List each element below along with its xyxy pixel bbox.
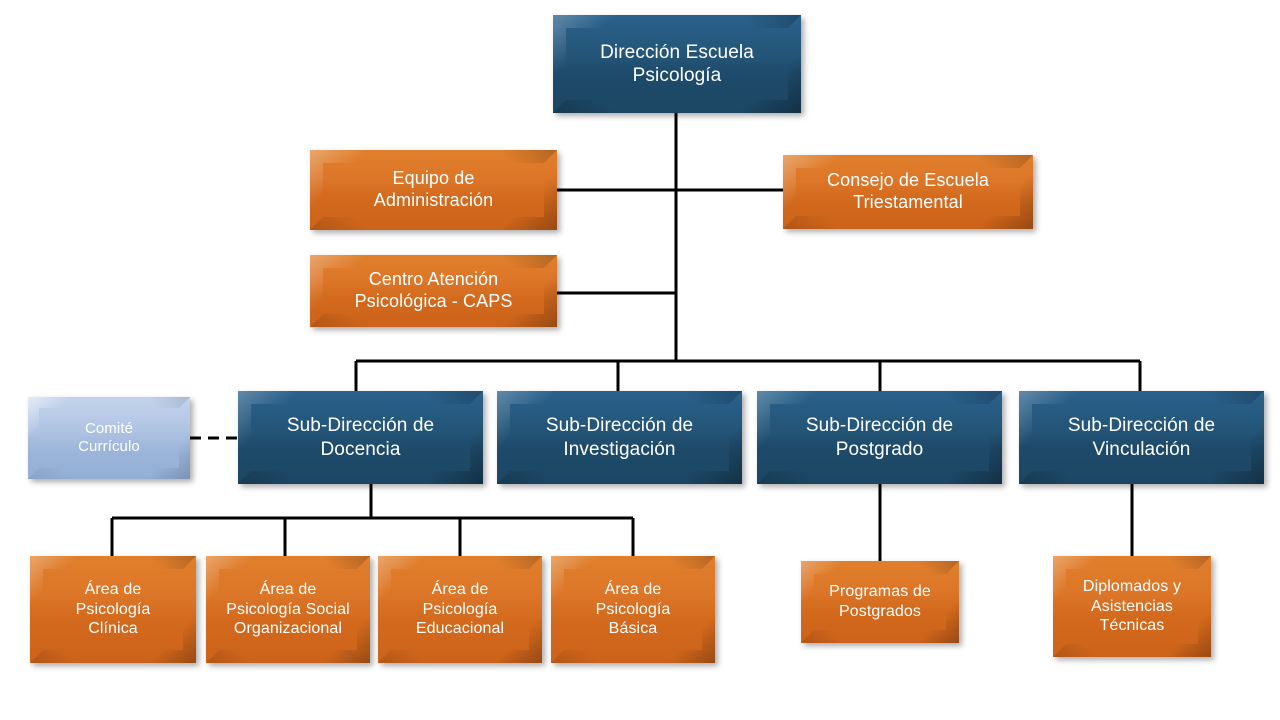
node-sub-direccion-vinculacion[interactable]: Sub-Dirección de Vinculación <box>1019 391 1264 484</box>
node-label: Sub-Dirección de Postgrado <box>800 414 959 460</box>
org-chart-canvas: Dirección Escuela Psicología Equipo de A… <box>0 0 1280 720</box>
node-consejo-escuela-triestamental[interactable]: Consejo de Escuela Triestamental <box>783 155 1033 229</box>
node-sub-direccion-investigacion[interactable]: Sub-Dirección de Investigación <box>497 391 742 484</box>
node-label: Sub-Dirección de Investigación <box>540 414 699 460</box>
node-label: Área de Psicología Clínica <box>70 580 157 639</box>
node-label: Centro Atención Psicológica - CAPS <box>349 269 519 313</box>
node-area-psicologia-basica[interactable]: Área de Psicología Básica <box>551 556 715 663</box>
node-area-psicologia-social-organizacional[interactable]: Área de Psicología Social Organizacional <box>206 556 370 663</box>
node-label: Sub-Dirección de Docencia <box>281 414 440 460</box>
node-label: Dirección Escuela Psicología <box>594 41 760 87</box>
node-label: Área de Psicología Social Organizacional <box>220 580 356 639</box>
node-label: Sub-Dirección de Vinculación <box>1062 414 1221 460</box>
node-diplomados-asistencias-tecnicas[interactable]: Diplomados y Asistencias Técnicas <box>1053 556 1211 657</box>
node-label: Equipo de Administración <box>368 168 499 212</box>
node-sub-direccion-docencia[interactable]: Sub-Dirección de Docencia <box>238 391 483 484</box>
node-label: Área de Psicología Educacional <box>410 580 510 639</box>
node-centro-atencion-psicologica-caps[interactable]: Centro Atención Psicológica - CAPS <box>310 255 557 327</box>
node-sub-direccion-postgrado[interactable]: Sub-Dirección de Postgrado <box>757 391 1002 484</box>
node-label: Área de Psicología Básica <box>590 580 677 639</box>
node-label: Diplomados y Asistencias Técnicas <box>1077 577 1187 636</box>
node-equipo-administracion[interactable]: Equipo de Administración <box>310 150 557 230</box>
node-comite-curriculo[interactable]: Comité Currículo <box>28 397 190 479</box>
node-area-psicologia-educacional[interactable]: Área de Psicología Educacional <box>378 556 542 663</box>
node-area-psicologia-clinica[interactable]: Área de Psicología Clínica <box>30 556 196 663</box>
node-label: Programas de Postgrados <box>823 582 937 621</box>
node-label: Consejo de Escuela Triestamental <box>821 170 995 214</box>
node-direccion-escuela-psicologia[interactable]: Dirección Escuela Psicología <box>553 15 801 113</box>
node-programas-postgrados[interactable]: Programas de Postgrados <box>801 561 959 643</box>
node-label: Comité Currículo <box>72 420 146 457</box>
